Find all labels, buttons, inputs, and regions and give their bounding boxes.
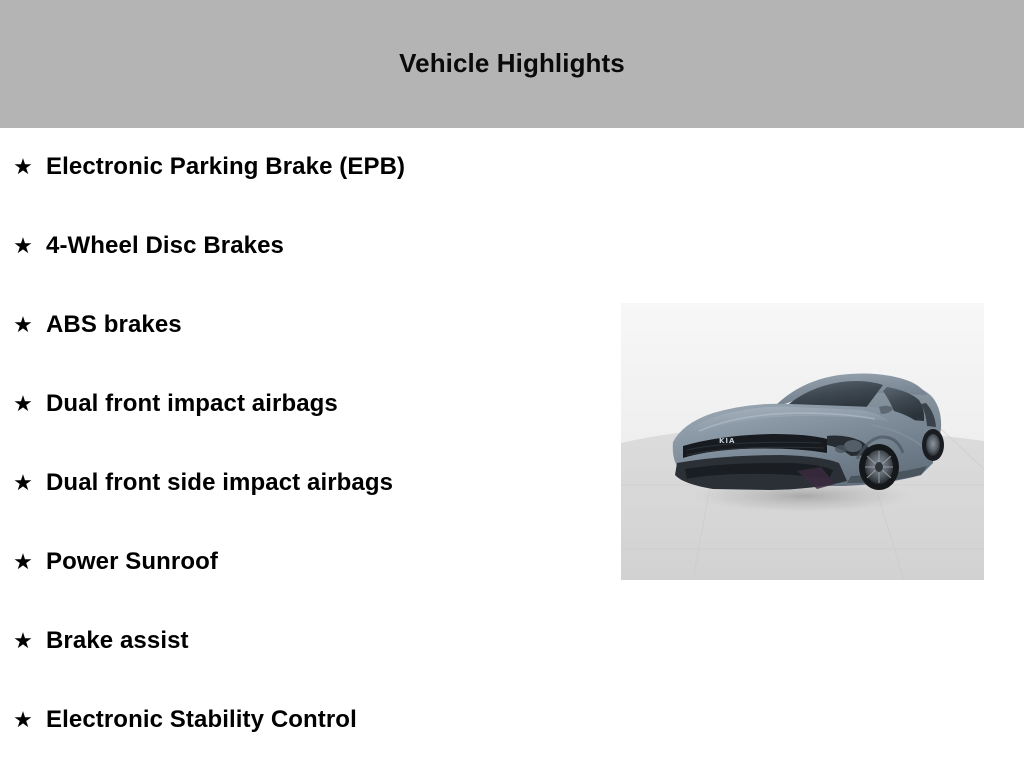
header-band: Vehicle Highlights bbox=[0, 0, 1024, 128]
vehicle-highlights-list: ★ Electronic Parking Brake (EPB) ★ 4-Whe… bbox=[0, 128, 620, 760]
list-item: ★ Dual front impact airbags bbox=[0, 365, 620, 444]
highlight-label: ABS brakes bbox=[46, 312, 182, 338]
list-item: ★ Electronic Parking Brake (EPB) bbox=[0, 128, 620, 207]
list-item: ★ Power Sunroof bbox=[0, 523, 620, 602]
rear-wheel-group bbox=[922, 429, 944, 461]
highlight-label: Dual front side impact airbags bbox=[46, 470, 393, 496]
highlight-label: Dual front impact airbags bbox=[46, 391, 338, 417]
vehicle-photo-illustration: KIA bbox=[621, 303, 984, 580]
highlight-label: 4-Wheel Disc Brakes bbox=[46, 233, 284, 259]
star-icon: ★ bbox=[12, 394, 34, 416]
highlight-label: Power Sunroof bbox=[46, 549, 218, 575]
star-icon: ★ bbox=[12, 473, 34, 495]
vehicle-photo: KIA bbox=[621, 303, 984, 580]
list-item: ★ Dual front side impact airbags bbox=[0, 444, 620, 523]
content-area: ★ Electronic Parking Brake (EPB) ★ 4-Whe… bbox=[0, 128, 1024, 768]
list-item: ★ 4-Wheel Disc Brakes bbox=[0, 207, 620, 286]
highlight-label: Brake assist bbox=[46, 628, 189, 654]
front-wheel-group bbox=[859, 444, 899, 490]
list-item: ★ Electronic Stability Control bbox=[0, 681, 620, 760]
star-icon: ★ bbox=[12, 631, 34, 653]
list-item: ★ ABS brakes bbox=[0, 286, 620, 365]
headlight-inner-lens bbox=[835, 445, 847, 453]
star-icon: ★ bbox=[12, 236, 34, 258]
page-title: Vehicle Highlights bbox=[399, 50, 625, 78]
star-icon: ★ bbox=[12, 710, 34, 732]
star-icon: ★ bbox=[12, 552, 34, 574]
highlight-label: Electronic Stability Control bbox=[46, 707, 357, 733]
star-icon: ★ bbox=[12, 315, 34, 337]
list-item: ★ Brake assist bbox=[0, 602, 620, 681]
star-icon: ★ bbox=[12, 157, 34, 179]
kia-emblem: KIA bbox=[719, 437, 735, 445]
highlight-label: Electronic Parking Brake (EPB) bbox=[46, 154, 405, 180]
